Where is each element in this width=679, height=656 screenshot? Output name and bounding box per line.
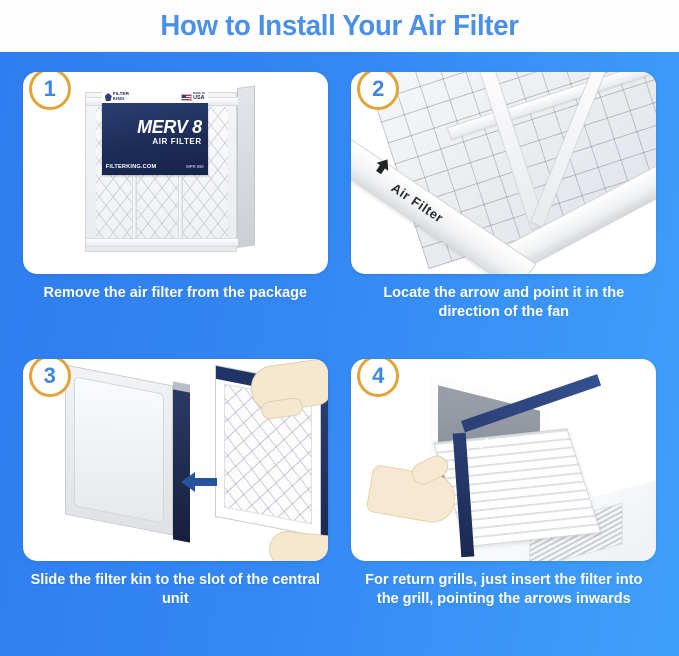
mpr-rating: MPR 650 — [186, 164, 203, 169]
step-3: 3 — [14, 359, 337, 646]
step-1-caption: Remove the air filter from the package — [25, 284, 325, 303]
step-3-card: 3 — [23, 359, 328, 561]
step-3-caption: Slide the filter kin to the slot of the … — [25, 571, 325, 609]
header-band: How to Install Your Air Filter — [0, 0, 679, 52]
step-4-caption: For return grills, just insert the filte… — [354, 571, 654, 609]
crown-icon — [105, 93, 112, 101]
filter-front-face: FILTER KING MADE IN USA — [85, 92, 237, 252]
step-1-card: 1 — [23, 72, 328, 274]
brand-website: FILTERKING.COM — [106, 164, 157, 170]
step-2: 2 Air Filter Locate the arrow — [343, 72, 666, 359]
made-in-usa-text: MADE IN USA — [193, 93, 205, 101]
steps-grid: 1 — [0, 52, 679, 656]
page-title: How to Install Your Air Filter — [160, 10, 518, 43]
merv-rating: MERV 8 — [102, 117, 202, 138]
air-filter-product-image: FILTER KING MADE IN USA — [85, 88, 255, 256]
usa-flag-icon — [181, 94, 192, 101]
product-type: AIR FILTER — [102, 137, 202, 146]
step-4: 4 — [343, 359, 666, 646]
step-2-card: 2 Air Filter — [351, 72, 656, 274]
brand-name: FILTER KING — [113, 92, 129, 102]
infographic-root: How to Install Your Air Filter 1 — [0, 0, 679, 656]
label-footer: FILTERKING.COM MPR 650 — [106, 164, 204, 170]
label-brand-strip: FILTER KING MADE IN USA — [102, 91, 208, 103]
step-1-badge: 1 — [29, 72, 71, 110]
filter-product-label: FILTER KING MADE IN USA — [102, 103, 208, 175]
filter-king-logo: FILTER KING — [105, 92, 129, 102]
return-grill-illustration — [351, 359, 656, 561]
step-4-card: 4 — [351, 359, 656, 561]
step-2-caption: Locate the arrow and point it in the dir… — [354, 284, 654, 322]
hand-lower — [267, 529, 328, 561]
slide-filter-illustration — [23, 359, 328, 561]
filter-edge — [86, 238, 238, 247]
filter-side-edge — [321, 385, 328, 540]
central-unit-inset — [74, 376, 164, 523]
filter-corner-image: Air Filter — [351, 72, 656, 274]
step-1: 1 — [14, 72, 337, 359]
filter-mesh-panel — [364, 72, 656, 269]
filter-side-face — [237, 85, 255, 248]
unit-slot-dark — [173, 389, 190, 542]
made-in-usa-badge: MADE IN USA — [181, 93, 205, 101]
central-unit-body — [65, 365, 173, 536]
direction-arrow-icon — [181, 471, 217, 493]
